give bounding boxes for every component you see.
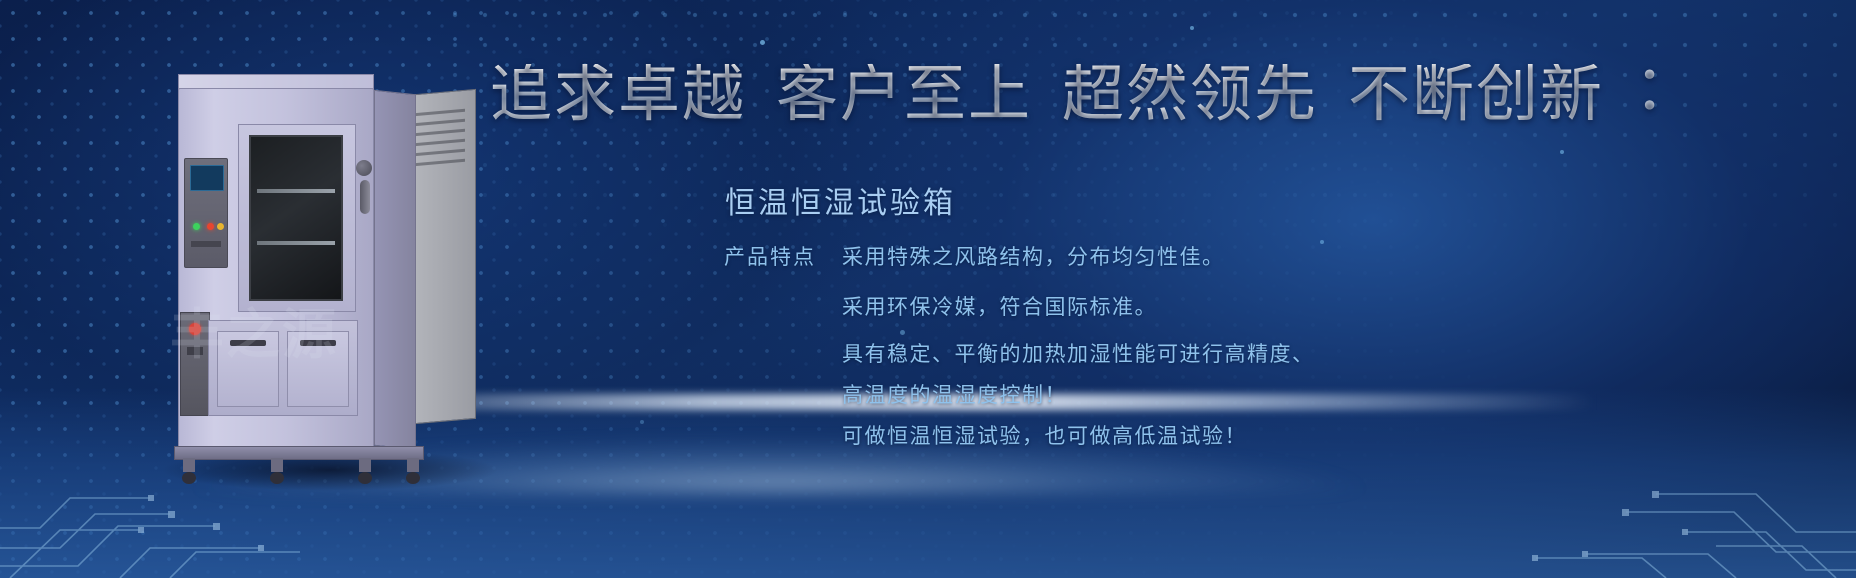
chamber-side-panel bbox=[374, 90, 416, 450]
headline: 追求卓越 客户至上 超然领先 不断创新 ： bbox=[490, 56, 1820, 134]
headline-trailing-mark: ： bbox=[1634, 58, 1698, 120]
headline-phrase-4: 不断创新 bbox=[1348, 64, 1604, 126]
caster-wheel bbox=[358, 458, 372, 484]
caster-wheel bbox=[406, 458, 420, 484]
light-speck bbox=[760, 40, 765, 45]
headline-phrase-3: 超然领先 bbox=[1062, 64, 1318, 126]
chamber-base-rail bbox=[174, 446, 424, 460]
light-speck bbox=[1190, 26, 1194, 30]
feature-row-first: 产品特点 采用特殊之风路结构，分布均匀性佳。 bbox=[724, 238, 1544, 279]
controller-button-strip bbox=[191, 241, 221, 247]
caster-wheel bbox=[182, 458, 196, 484]
product-hero-banner: 丰之源 追求卓越 客户至上 超然领先 不断创新 ： 恒温恒湿试验箱 产品特点 采… bbox=[0, 0, 1856, 578]
door-hinge-knob bbox=[356, 160, 372, 176]
feature-line-4: 高温度的温湿度控制！ bbox=[842, 376, 1544, 417]
chamber-control-panel bbox=[184, 158, 228, 268]
door-handle bbox=[360, 180, 370, 214]
product-image: 丰之源 bbox=[150, 62, 510, 482]
status-led-red bbox=[207, 223, 214, 230]
status-led-green bbox=[193, 223, 200, 230]
headline-phrase-2: 客户至上 bbox=[776, 64, 1032, 126]
feature-line-1: 采用特殊之风路结构，分布均匀性佳。 bbox=[842, 238, 1225, 279]
brand-watermark: 丰之源 bbox=[170, 284, 500, 374]
controller-display bbox=[190, 165, 224, 191]
chamber-viewing-window bbox=[249, 135, 343, 301]
feature-list: 产品特点 采用特殊之风路结构，分布均匀性佳。 采用环保冷媒，符合国际标准。 具有… bbox=[724, 238, 1544, 458]
status-led-yellow bbox=[217, 223, 224, 230]
caster-wheel bbox=[270, 458, 284, 484]
headline-phrase-1: 追求卓越 bbox=[490, 64, 746, 126]
feature-list-label: 产品特点 bbox=[724, 241, 842, 271]
feature-line-2: 采用环保冷媒，符合国际标准。 bbox=[842, 288, 1544, 329]
light-speck bbox=[1560, 150, 1564, 154]
product-name-subtitle: 恒温恒湿试验箱 bbox=[725, 178, 956, 222]
feature-line-5: 可做恒温恒湿试验，也可做高低温试验！ bbox=[842, 417, 1544, 458]
feature-line-3: 具有稳定、平衡的加热加湿性能可进行高精度、 bbox=[842, 335, 1544, 376]
